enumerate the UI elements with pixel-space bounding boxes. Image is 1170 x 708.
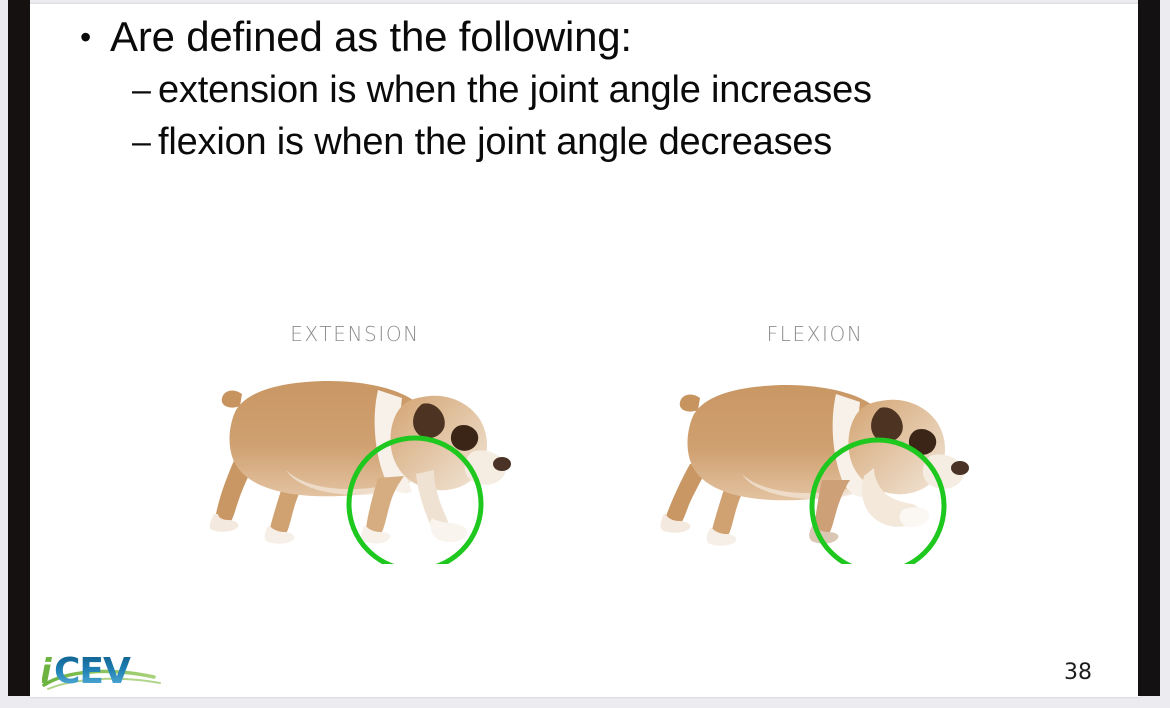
- bullet-marker-icon: •: [80, 10, 110, 64]
- bullet-item-0: • Are defined as the following:: [80, 10, 1100, 64]
- dash-marker-icon: –: [132, 116, 158, 168]
- figure-flexion: FLEXION: [605, 322, 1025, 564]
- icev-logo: i CEV: [42, 641, 172, 693]
- figure-caption-extension: EXTENSION: [290, 322, 420, 346]
- figure-caption-flexion: FLEXION: [767, 322, 864, 346]
- bullet-item-2: – flexion is when the joint angle decrea…: [132, 116, 1100, 168]
- bullet-list: • Are defined as the following: – extens…: [70, 10, 1100, 168]
- figure-row: EXTENSION: [30, 322, 1140, 564]
- page-number: 38: [1064, 660, 1092, 685]
- bullet-item-1: – extension is when the joint angle incr…: [132, 64, 1100, 116]
- logo-letter-i: i: [42, 652, 53, 692]
- slide-canvas: • Are defined as the following: – extens…: [30, 4, 1140, 697]
- slide-viewer: • Are defined as the following: – extens…: [0, 0, 1170, 708]
- dash-marker-icon: –: [132, 64, 158, 116]
- bullet-text-2: flexion is when the joint angle decrease…: [158, 116, 1100, 168]
- figure-extension: EXTENSION: [145, 322, 565, 564]
- dog-illustration-flexion: [650, 364, 980, 564]
- letterbox-right: [1138, 0, 1160, 696]
- bullet-text-0: Are defined as the following:: [110, 10, 1100, 64]
- bullet-text-1: extension is when the joint angle increa…: [158, 64, 1100, 116]
- logo-letters-cev: CEV: [54, 651, 131, 692]
- letterbox-left: [8, 0, 30, 696]
- dog-illustration-extension: [190, 364, 520, 564]
